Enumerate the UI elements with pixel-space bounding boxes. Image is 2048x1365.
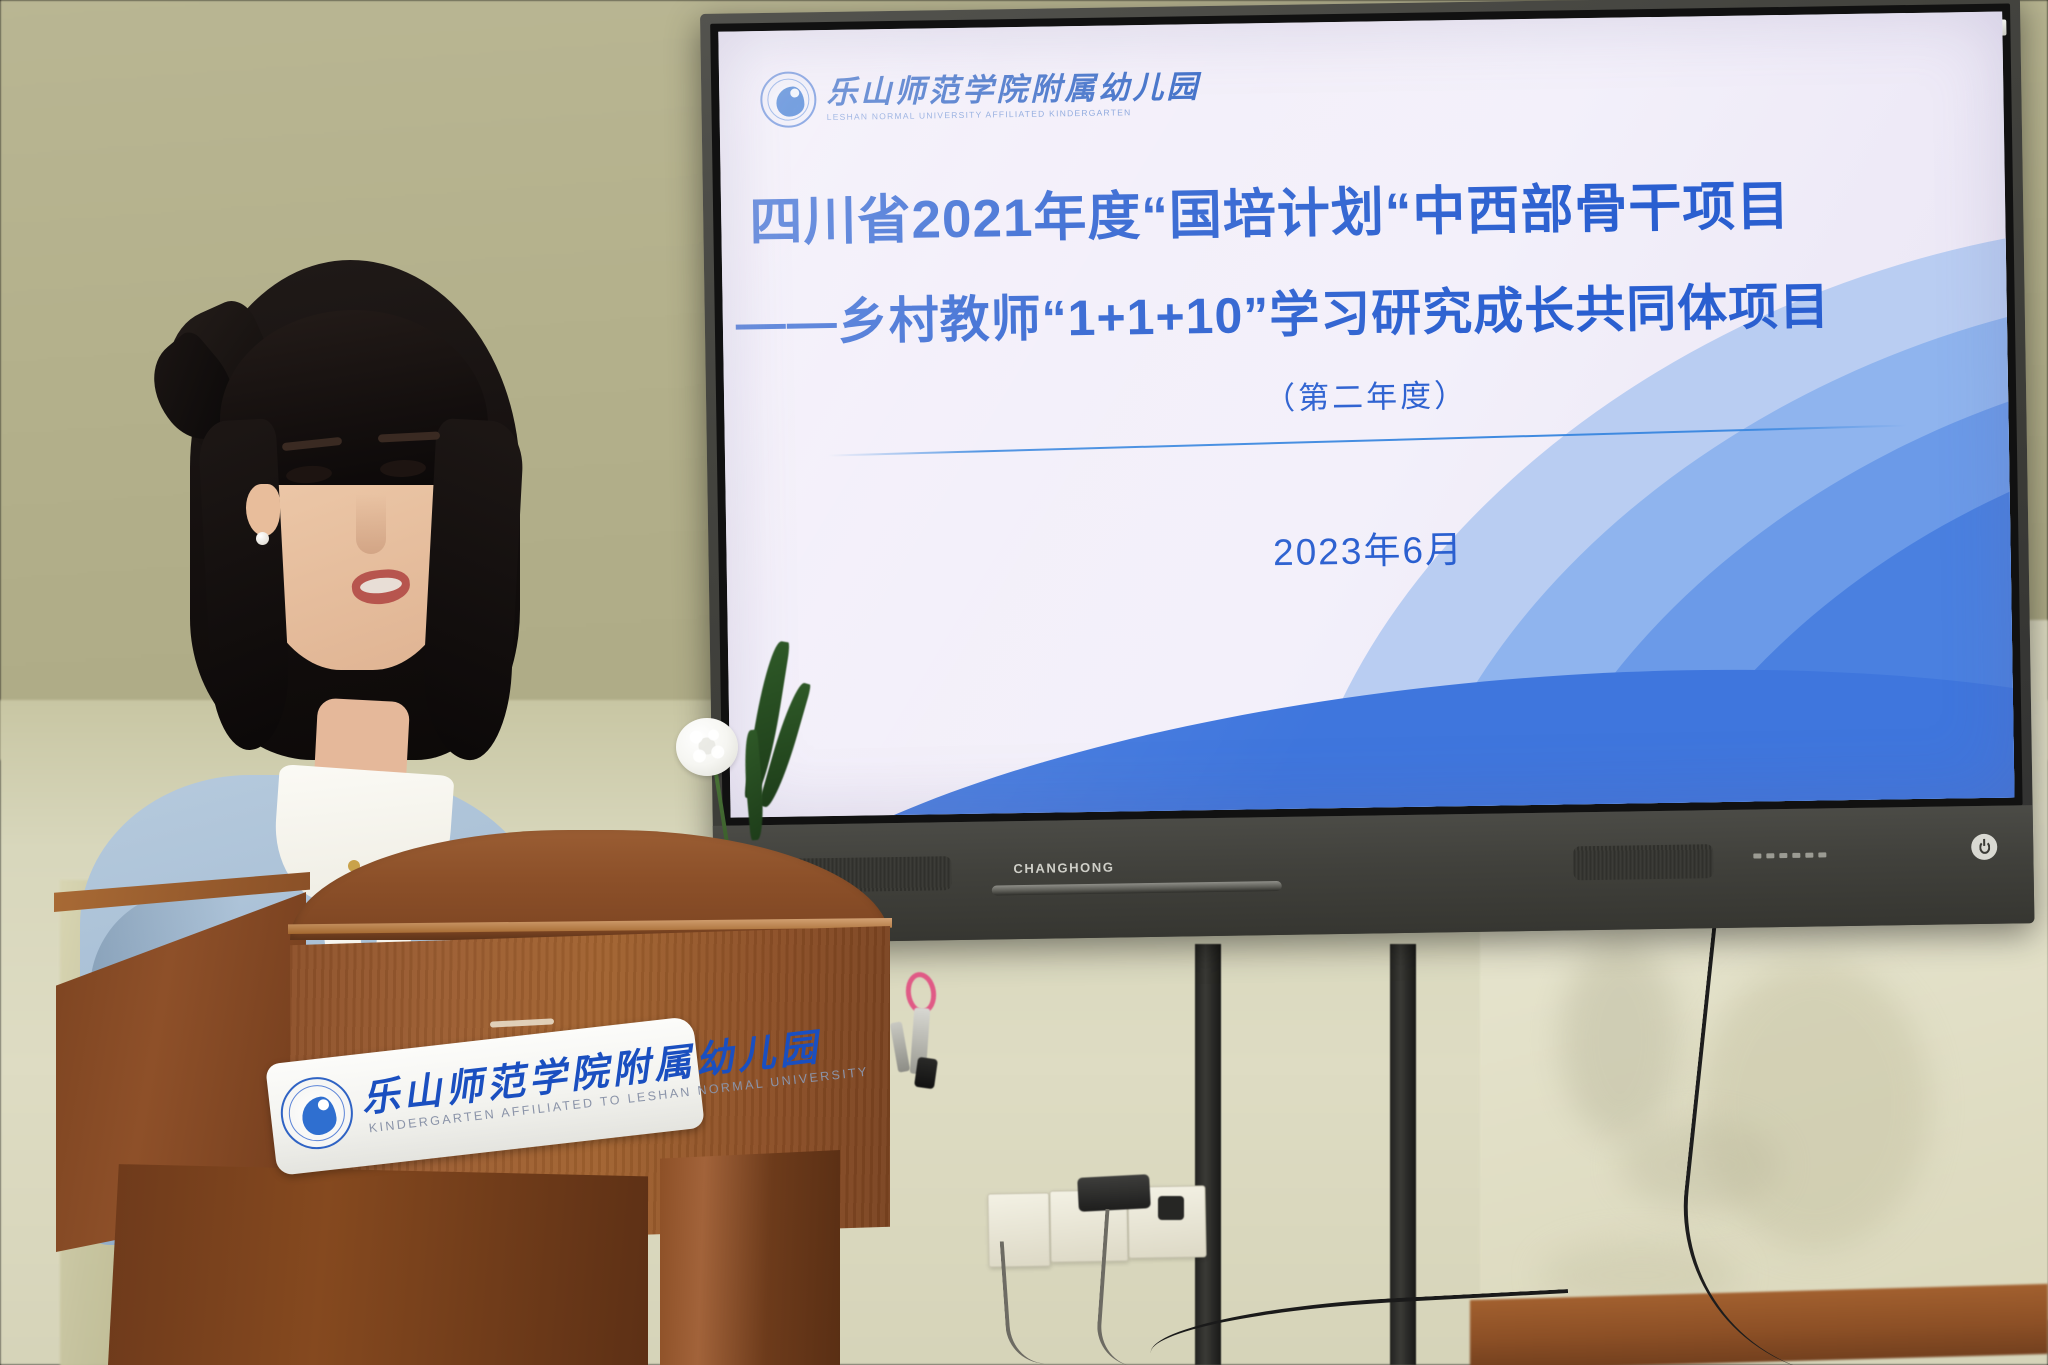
power-adapter — [1077, 1174, 1151, 1212]
tv-brand-label: CHANGHONG — [1013, 860, 1114, 877]
presentation-slide: 乐山师范学院附属幼儿园 LESHAN NORMAL UNIVERSITY AFF… — [718, 12, 2014, 818]
podium-base — [108, 1160, 648, 1365]
status-led-row — [1753, 852, 1826, 858]
slide-logo-en: LESHAN NORMAL UNIVERSITY AFFILIATED KIND… — [827, 107, 1201, 121]
kindergarten-seal-icon — [760, 71, 817, 128]
tv-bottom-bezel: CHANGHONG — [713, 805, 2035, 944]
ear — [246, 484, 280, 536]
wooden-podium: 乐山师范学院附属幼儿园 KINDERGARTEN AFFILIATED TO L… — [20, 830, 900, 1365]
slide-title-line-1: 四川省2021年度“国培计划“中西部骨干项目 — [749, 164, 1791, 256]
power-icon — [1979, 840, 1990, 853]
slide-title-line-2: ——乡村教师“1+1+10”学习研究成长共同体项目 — [735, 266, 1831, 355]
ir-sensor-slot — [992, 881, 1282, 896]
tv-screen[interactable]: 乐山师范学院附属幼儿园 LESHAN NORMAL UNIVERSITY AFF… — [718, 12, 2014, 818]
slide-logo: 乐山师范学院附属幼儿园 LESHAN NORMAL UNIVERSITY AFF… — [760, 65, 1201, 128]
slide-logo-cn: 乐山师范学院附属幼儿园 — [826, 71, 1200, 108]
wall-stain — [1560, 940, 1680, 1140]
podium-base-right — [660, 1150, 840, 1365]
interactive-flat-panel[interactable]: CHANGHONG 乐山师范学院附属幼儿园 LESHAN NORMAL UNI — [700, 0, 2034, 944]
power-plug — [1158, 1196, 1184, 1220]
power-button[interactable] — [1971, 834, 1997, 860]
pearl-earring — [256, 532, 269, 545]
speaker-grille-right — [1573, 844, 1714, 880]
key-fob — [914, 1057, 938, 1089]
nose — [356, 494, 386, 554]
hair-side-right — [419, 418, 525, 762]
tv-stand-leg-left — [1195, 944, 1221, 1365]
photo-scene: CHANGHONG 乐山师范学院附属幼儿园 LESHAN NORMAL UNI — [0, 0, 2048, 1365]
white-chrysanthemum-flower — [676, 718, 738, 776]
